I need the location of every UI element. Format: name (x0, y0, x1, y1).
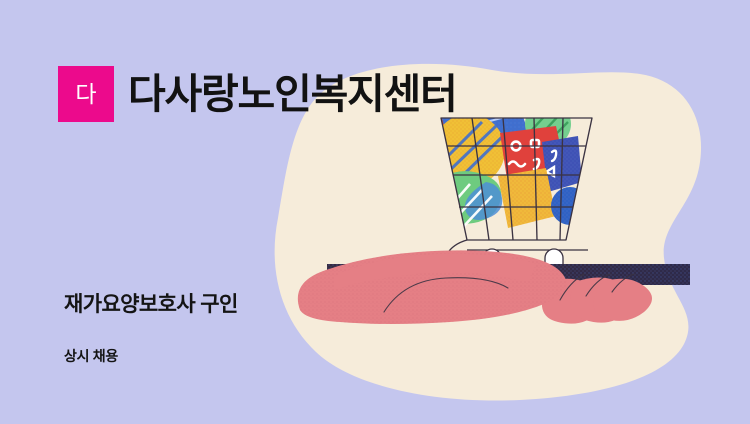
posting-copy: 재가요양보호사 구인 상시 채용 (64, 294, 238, 363)
logo-badge-char: 다 (75, 83, 96, 106)
brand-title: 다사랑노인복지센터 (128, 74, 457, 115)
job-title: 재가요양보호사 구인 (64, 294, 238, 315)
brand-header: 다 다사랑노인복지센터 (58, 66, 457, 122)
recruitment-banner: 다 다사랑노인복지센터 재가요양보호사 구인 상시 채용 (0, 0, 750, 424)
job-subtitle: 상시 채용 (64, 349, 238, 363)
logo-badge: 다 (58, 66, 114, 122)
